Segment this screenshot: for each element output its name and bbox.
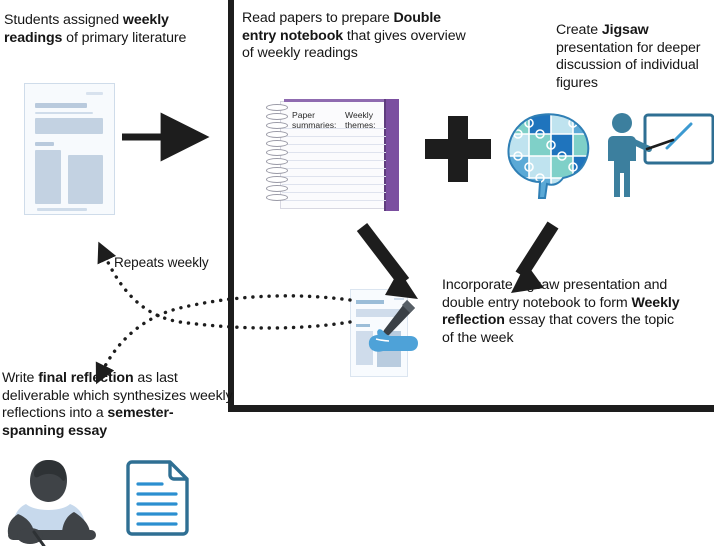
arrows-layer [0, 0, 714, 546]
arrow-repeats-weekly-loop [104, 254, 350, 328]
diagram-canvas: Students assigned weekly readings of pri… [0, 0, 714, 546]
arrow-to-final-reflection [102, 296, 350, 372]
arrow-jigsaw-to-reflection-head [511, 263, 544, 293]
arrow-notebook-to-reflection-head [385, 270, 418, 299]
